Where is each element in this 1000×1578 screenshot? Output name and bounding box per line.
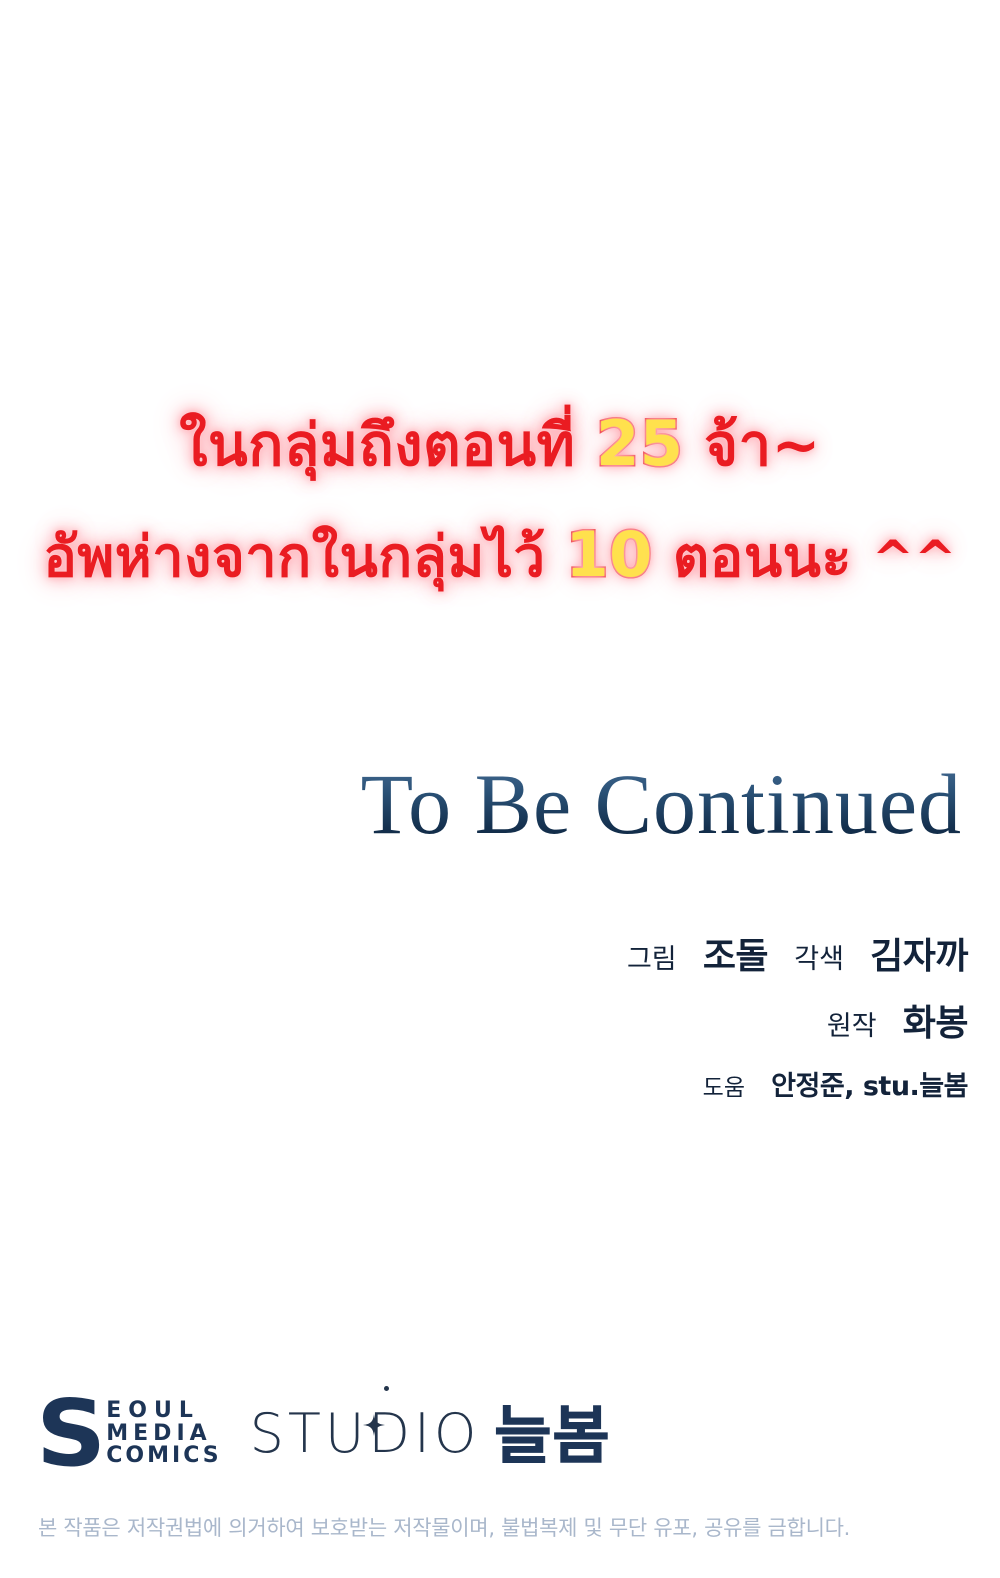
thai-line-1-episode-number: 25 (596, 407, 683, 480)
credit-label-adaptation: 각색 (794, 944, 844, 975)
credit-row-original: 원작 화봉 (0, 1003, 968, 1044)
thai-line-2-prefix: อัพห่างจากในกลุ่มไว้ (43, 525, 545, 590)
credit-name-original-author: 화봉 (903, 1003, 968, 1044)
copyright-notice: 본 작품은 저작권법에 의거하여 보호받는 저작물이며, 불법복제 및 무단 유… (38, 1512, 850, 1542)
credit-label-assistance: 도움 (703, 1075, 745, 1101)
sparkle-dot-icon (384, 1386, 389, 1391)
credit-name-adapter: 김자까 (870, 936, 968, 977)
thai-line-2-episode-number: 10 (566, 518, 653, 591)
thai-line-1-suffix: จ้า~ (704, 411, 821, 479)
seoul-media-comics-wordmark: EOUL MEDIA COMICS (106, 1400, 221, 1469)
thai-line-2-suffix: ตอนนะ (673, 525, 852, 590)
comic-end-page: ในกลุ่มถึงตอนที่ 25 จ้า~ อัพห่างจากในกลุ… (0, 0, 1000, 1578)
studio-wordmark: STUDIO (250, 1407, 481, 1461)
credits-block: 그림 조돌 각색 김자까 원작 화봉 도움 안정준, stu.늘봄 (0, 936, 968, 1102)
credit-name-assistants: 안정준, stu.늘봄 (771, 1071, 968, 1102)
credit-row-assistance: 도움 안정준, stu.늘봄 (0, 1071, 968, 1102)
seoul-media-line-media: MEDIA (106, 1423, 221, 1446)
thai-announcement-block: ในกลุ่มถึงตอนที่ 25 จ้า~ อัพห่างจากในกลุ… (0, 404, 1000, 599)
seoul-media-line-comics: COMICS (106, 1445, 221, 1468)
studio-neulbom-logo: STUDIO 늘봄 (250, 1403, 611, 1465)
seoul-media-comics-logo: S EOUL MEDIA COMICS (38, 1388, 222, 1480)
seoul-media-s-monogram-icon: S (36, 1388, 106, 1480)
seoul-media-line-eoul: EOUL (106, 1400, 221, 1423)
thai-announcement-line-1: ในกลุ่มถึงตอนที่ 25 จ้า~ (0, 404, 1000, 485)
credit-label-original: 원작 (827, 1011, 877, 1042)
thai-announcement-line-2: อัพห่างจากในกลุ่มไว้ 10 ตอนนะ ^^ (0, 515, 1000, 599)
credit-label-art: 그림 (627, 944, 677, 975)
publisher-logo-bar: S EOUL MEDIA COMICS STUDIO 늘봄 (38, 1388, 611, 1480)
neulbom-wordmark: 늘봄 (494, 1405, 610, 1467)
to-be-continued-text: To Be Continued (0, 756, 962, 852)
thai-line-1-prefix: ในกลุ่มถึงตอนที่ (179, 411, 575, 479)
credit-name-artist: 조돌 (703, 936, 768, 977)
sparkle-star-icon (363, 1391, 385, 1413)
credit-row-art-adaptation: 그림 조돌 각색 김자까 (0, 936, 968, 977)
thai-line-2-emoticon: ^^ (872, 530, 957, 588)
